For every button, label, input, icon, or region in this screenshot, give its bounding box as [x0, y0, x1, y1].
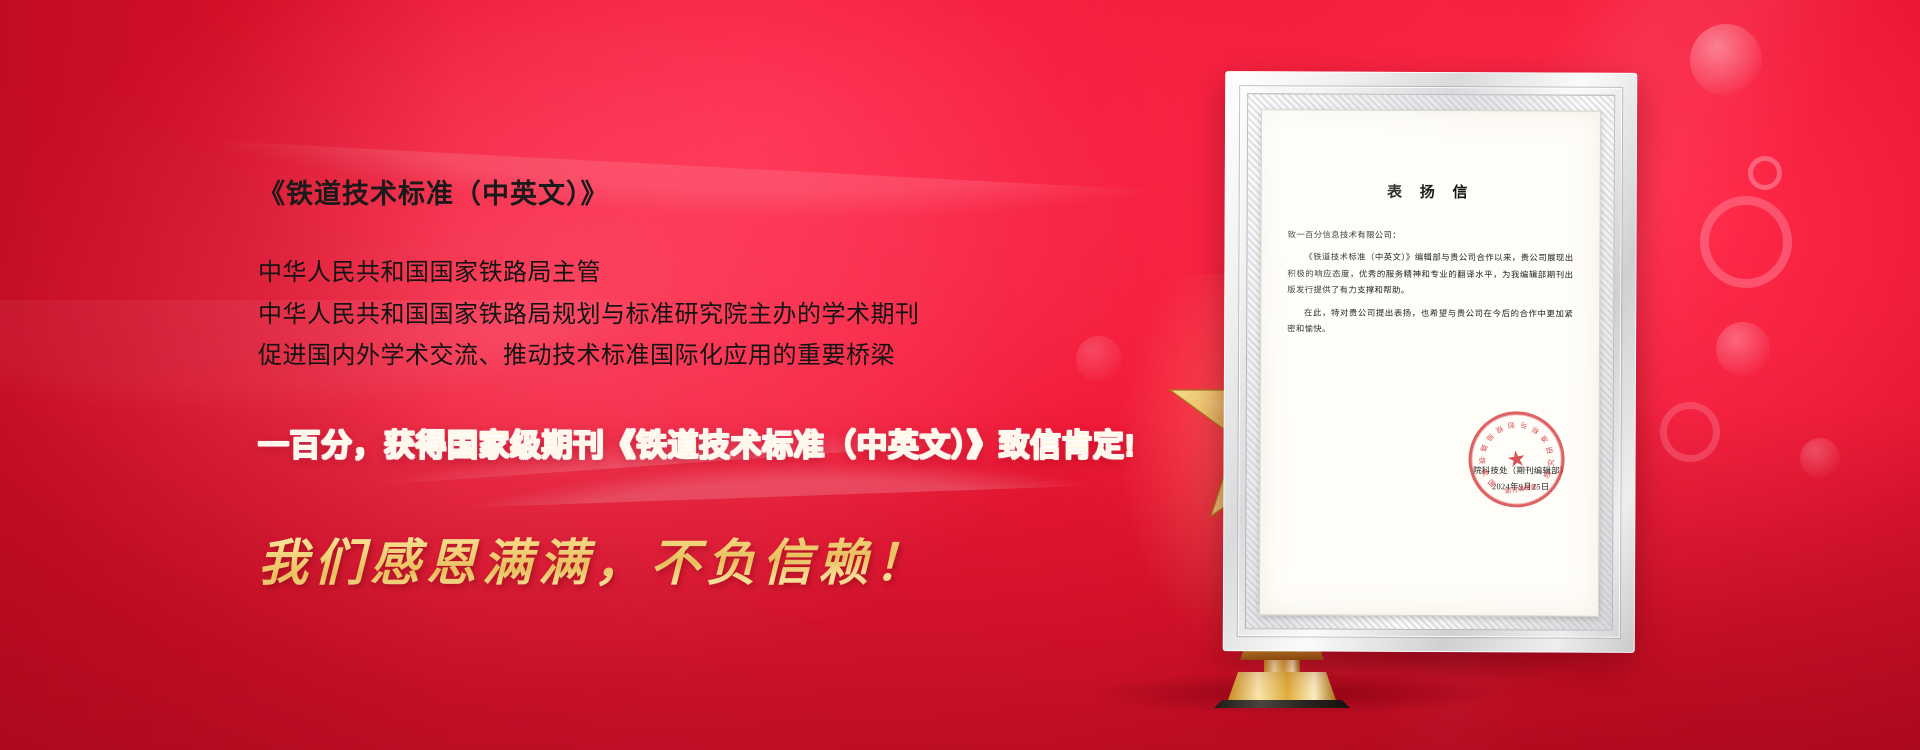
- certificate-salutation: 致一百分信息技术有限公司：: [1288, 227, 1574, 245]
- certificate-paper: 表 扬 信 致一百分信息技术有限公司： 《铁道技术标准（中英文）》编辑部与贵公司…: [1259, 109, 1601, 616]
- signature-date: 2024年9月25日: [1473, 479, 1569, 495]
- promo-banner: 《铁道技术标准（中英文）》 中华人民共和国国家铁路局主管 中华人民共和国国家铁路…: [0, 0, 1920, 750]
- certificate-body: 致一百分信息技术有限公司： 《铁道技术标准（中英文）》编辑部与贵公司合作以来，贵…: [1287, 227, 1573, 339]
- certificate-signature: 院科技处（期刊编辑部） 2024年9月25日: [1473, 463, 1569, 495]
- list-item: 中华人民共和国国家铁路局规划与标准研究院主办的学术期刊: [258, 294, 1198, 335]
- certificate-paragraph: 《铁道技术标准（中英文）》编辑部与贵公司合作以来，贵公司展现出积极的响应态度，优…: [1287, 250, 1573, 300]
- list-item: 中华人民共和国国家铁路局主管: [258, 252, 1198, 293]
- slogan-calligraphy: 我们感恩满满，不负信赖！: [258, 523, 1198, 595]
- headline-text: 一百分，获得国家级期刊《铁道技术标准（中英文）》致信肯定!: [258, 420, 1198, 465]
- list-item: 促进国内外学术交流、推动技术标准国际化应用的重要桥梁: [258, 335, 1198, 376]
- journal-title: 《铁道技术标准（中英文）》: [258, 178, 1198, 210]
- frame-outer-moulding: 表 扬 信 致一百分信息技术有限公司： 《铁道技术标准（中英文）》编辑部与贵公司…: [1223, 71, 1638, 653]
- certificate-paragraph: 在此，特对贵公司提出表扬，也希望与贵公司在今后的合作中更加紧密和愉快。: [1287, 305, 1573, 339]
- journal-description-list: 中华人民共和国国家铁路局主管 中华人民共和国国家铁路局规划与标准研究院主办的学术…: [258, 252, 1198, 376]
- signature-organization: 院科技处（期刊编辑部）: [1473, 463, 1569, 479]
- certificate-frame: 表 扬 信 致一百分信息技术有限公司： 《铁道技术标准（中英文）》编辑部与贵公司…: [1223, 71, 1638, 653]
- certificate-title: 表 扬 信: [1288, 180, 1574, 202]
- copy-block: 《铁道技术标准（中英文）》 中华人民共和国国家铁路局主管 中华人民共和国国家铁路…: [258, 178, 1198, 595]
- official-seal-icon: 国家铁路局规划与标准研究院 ★ 期刊编辑部: [1462, 405, 1571, 514]
